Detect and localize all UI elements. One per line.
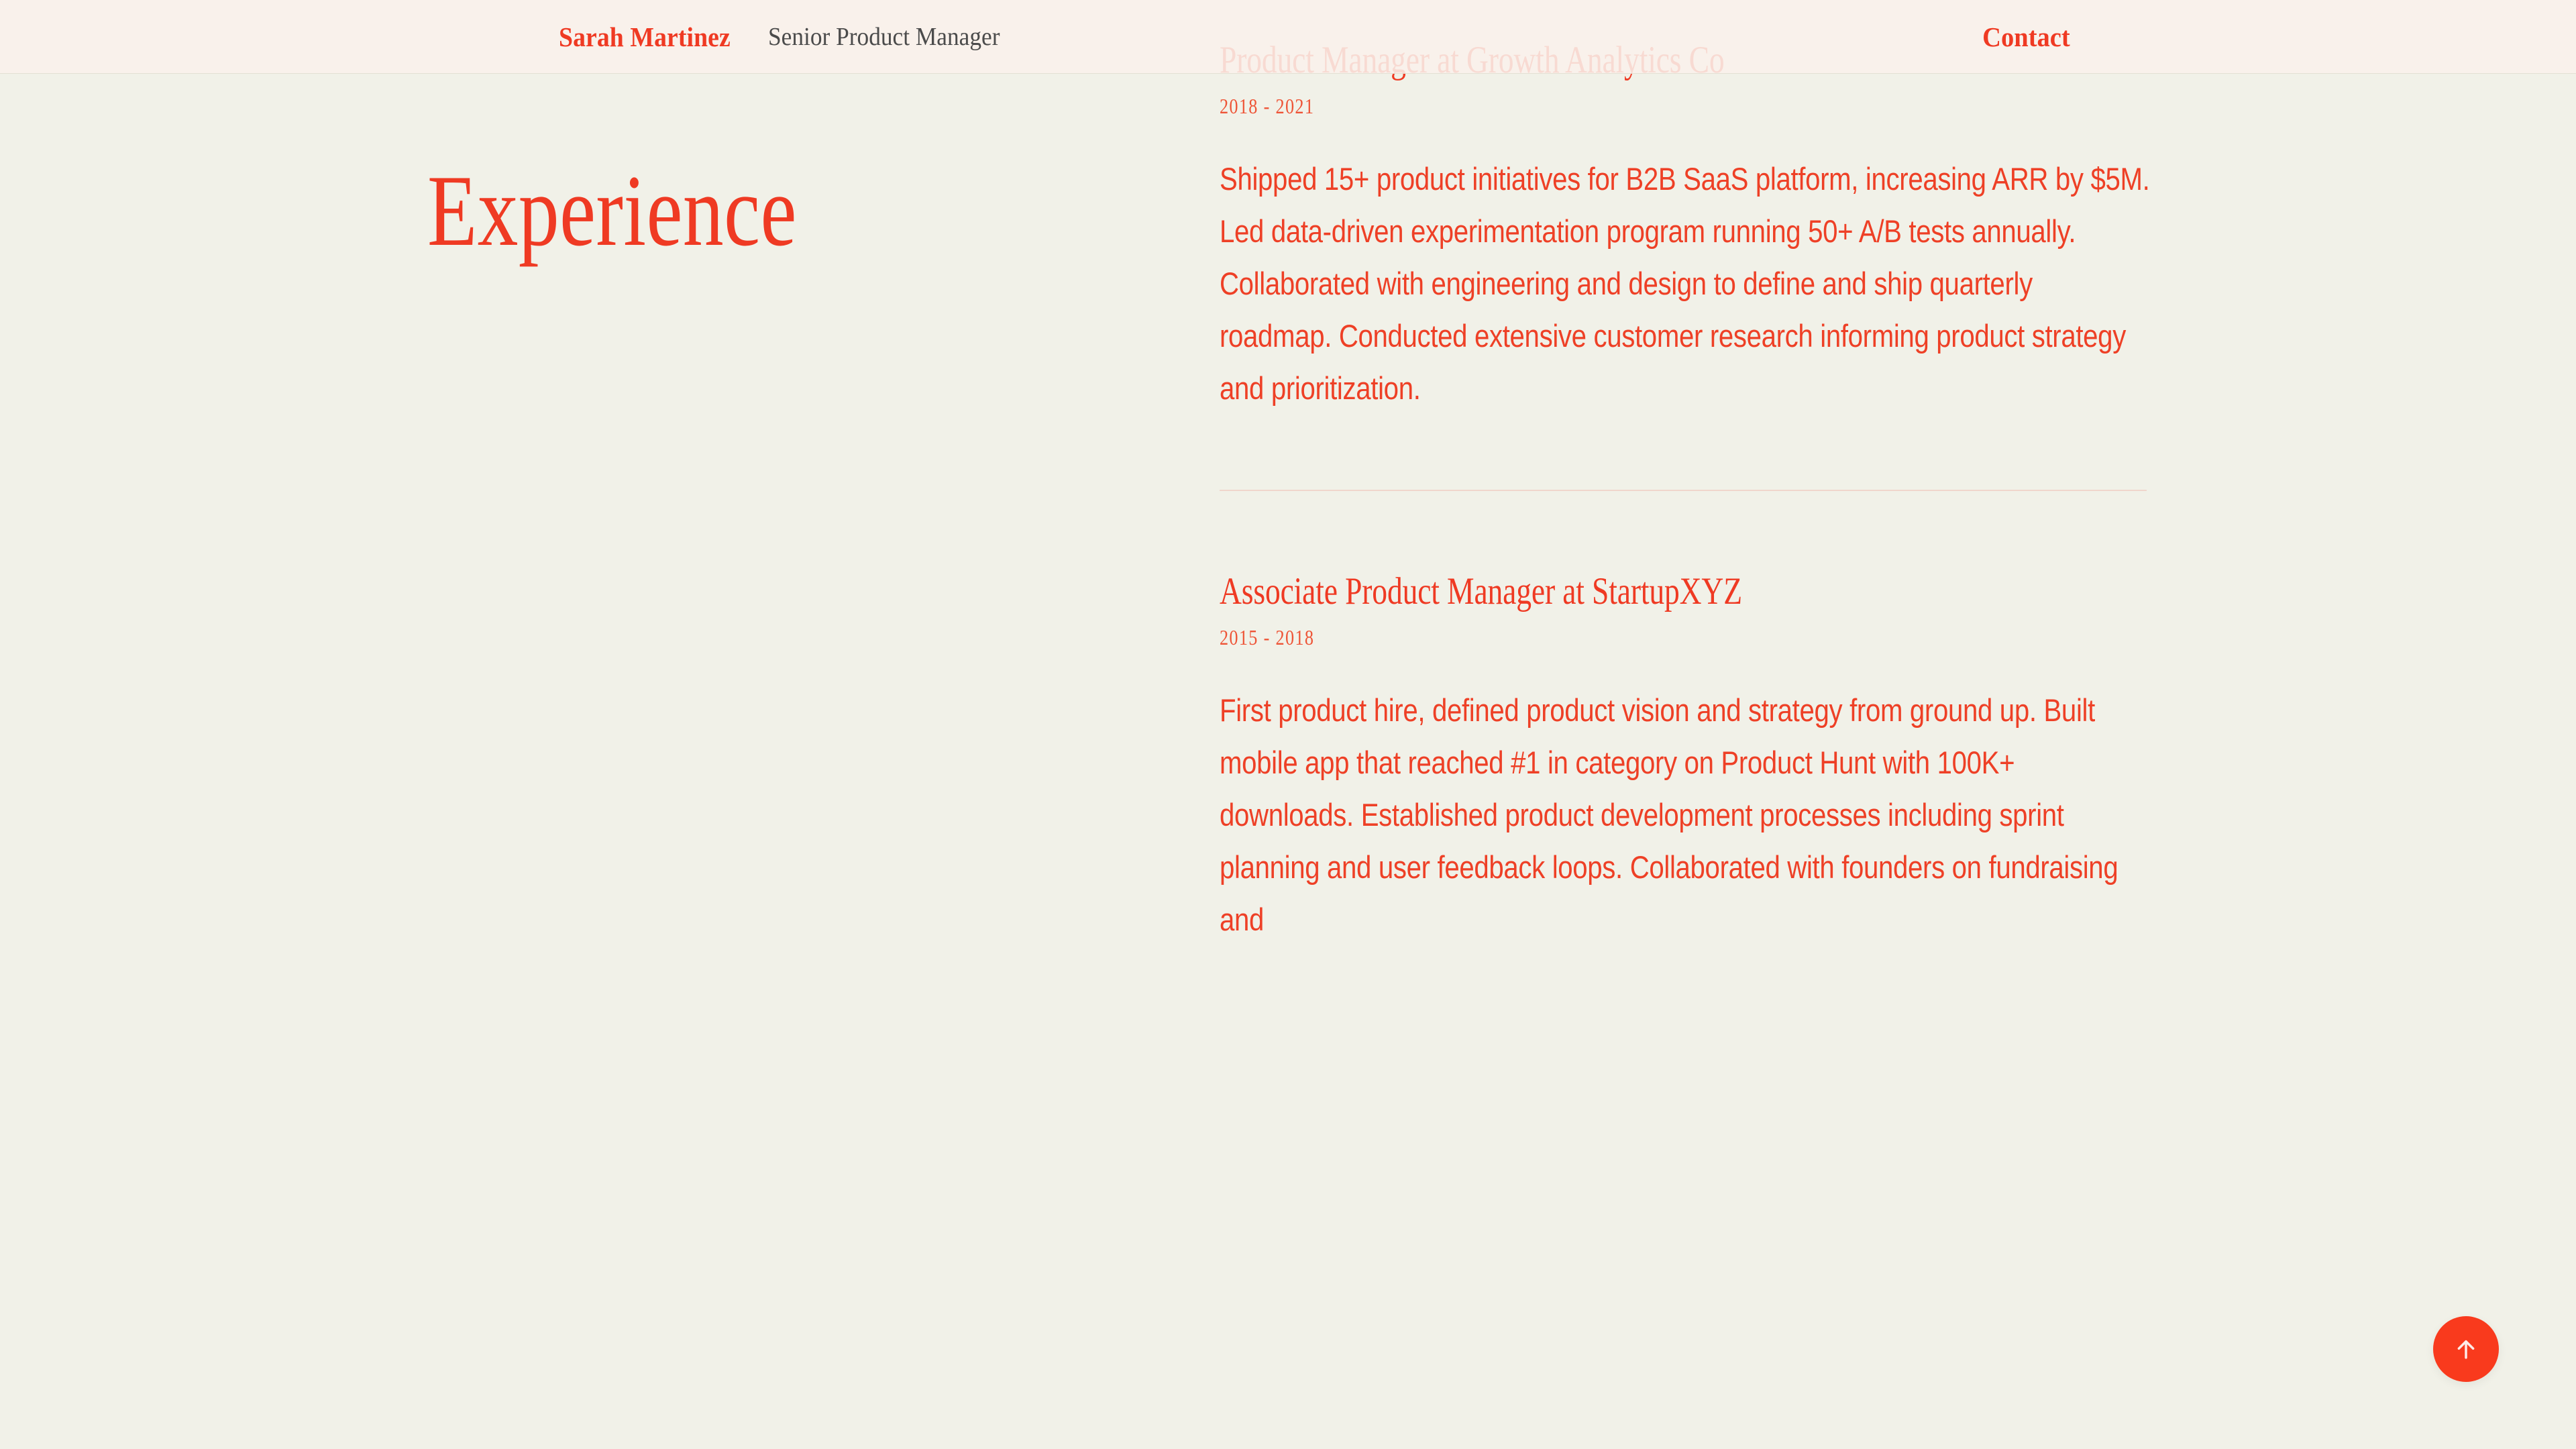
entry-description: Shipped 15+ product initiatives for B2B …	[1220, 153, 2151, 415]
brand-name[interactable]: Sarah Martinez	[559, 21, 731, 53]
entry-description: First product hire, defined product visi…	[1220, 684, 2151, 946]
page-title: Experience	[427, 160, 797, 262]
entry-date-range: 2018 - 2021	[1220, 95, 1982, 117]
experience-timeline: engineers, designers, and analysts. Defi…	[1220, 0, 2149, 946]
site-header: Sarah Martinez Senior Product Manager Co…	[0, 0, 2576, 74]
entry-job-title[interactable]: Associate Product Manager at StartupXYZ	[1220, 572, 1963, 612]
brand-role: Senior Product Manager	[768, 22, 1000, 52]
entry-date-range: 2015 - 2018	[1220, 627, 1982, 648]
experience-entry: Associate Product Manager at StartupXYZ …	[1220, 572, 2149, 946]
arrow-up-icon	[2451, 1334, 2481, 1364]
page-root: engineers, designers, and analysts. Defi…	[0, 0, 2576, 1449]
entry-divider	[1220, 490, 2147, 491]
brand-group[interactable]: Sarah Martinez Senior Product Manager	[559, 0, 1018, 74]
nav-link-contact[interactable]: Contact	[1982, 0, 2070, 74]
scroll-to-top-button[interactable]	[2433, 1316, 2499, 1382]
experience-entry: Product Manager at Growth Analytics Co 2…	[1220, 40, 2149, 415]
